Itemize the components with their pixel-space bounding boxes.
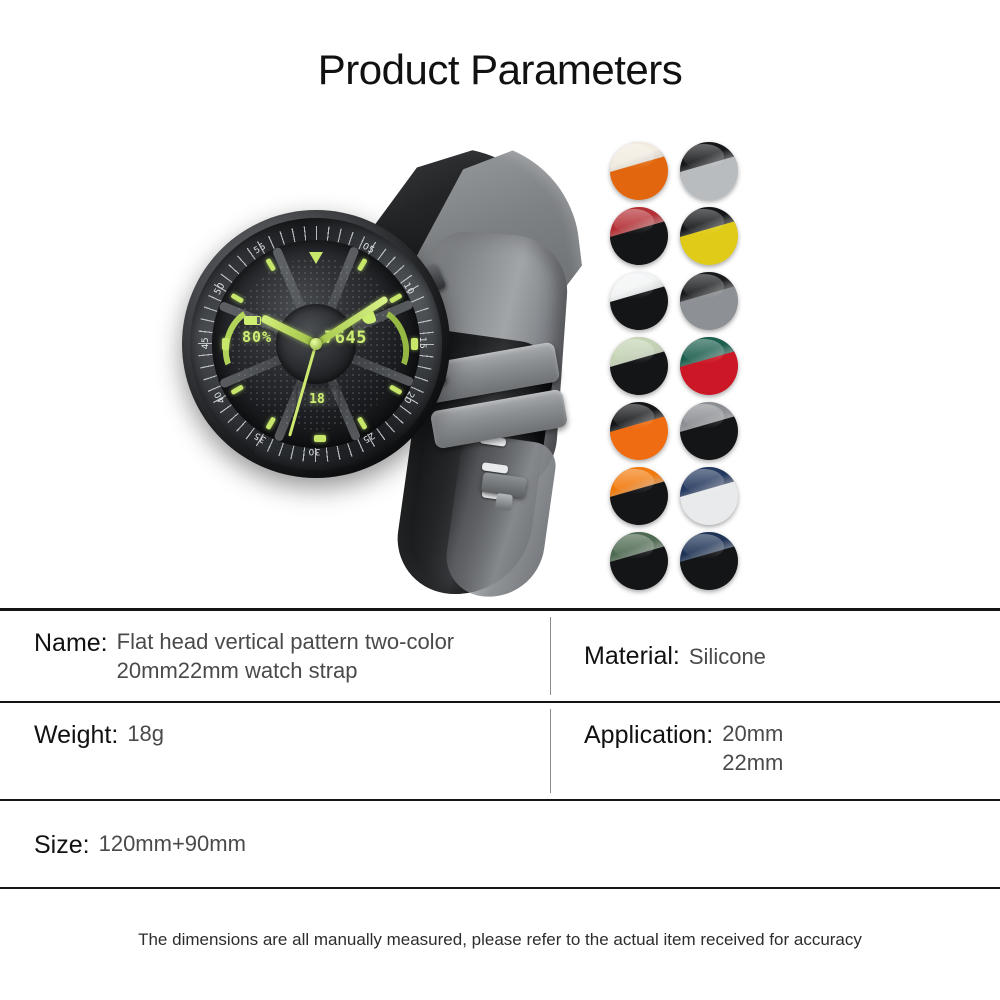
color-swatch-olive-black[interactable] <box>610 532 668 590</box>
color-swatch-red-black[interactable] <box>610 207 668 265</box>
product-hero-image: 0510152025303540455055 80% 7645 18 <box>0 128 1000 598</box>
dial-marker <box>356 416 367 430</box>
battery-percentage: 80% <box>242 328 272 346</box>
color-swatch-sage-black[interactable] <box>610 337 668 395</box>
date-value: 18 <box>304 392 330 407</box>
spec-label-size: Size: <box>34 829 90 862</box>
hand-center-cap <box>310 338 322 350</box>
color-swatch-gray-black[interactable] <box>680 402 738 460</box>
color-swatch-white-black[interactable] <box>610 272 668 330</box>
spec-cell-material: Material: Silicone <box>550 611 1000 701</box>
color-swatch-navy-white[interactable] <box>680 467 738 525</box>
spec-label-material: Material: <box>584 640 680 673</box>
strap-clasp-pin <box>495 493 513 511</box>
dial-top-index <box>309 252 323 264</box>
color-swatch-black-orange[interactable] <box>610 402 668 460</box>
watch-dial: 80% 7645 18 <box>212 240 420 448</box>
dial-marker <box>411 338 418 350</box>
dial-marker <box>388 384 402 395</box>
page-title: Product Parameters <box>0 46 1000 94</box>
spec-cell-name: Name: Flat head vertical pattern two-col… <box>0 611 550 701</box>
dial-marker <box>265 416 276 430</box>
strap-lower-gray-edge <box>441 432 558 604</box>
dial-marker <box>265 258 276 272</box>
color-swatch-grid <box>610 142 740 592</box>
color-swatch-green-red[interactable] <box>680 337 738 395</box>
dial-marker <box>314 435 326 442</box>
color-swatch-black-yellow[interactable] <box>680 207 738 265</box>
color-swatch-orange-black[interactable] <box>610 467 668 525</box>
spec-value-name: Flat head vertical pattern two-color 20m… <box>117 627 455 685</box>
spec-row-weight: Weight: 18g Application: 20mm 22mm <box>0 703 1000 799</box>
dial-marker <box>356 258 367 272</box>
table-bottom-rule <box>0 887 1000 889</box>
spec-value-size: 120mm+90mm <box>99 829 246 858</box>
spec-cell-application: Application: 20mm 22mm <box>550 703 1000 799</box>
color-swatch-black-gray[interactable] <box>680 272 738 330</box>
dial-marker <box>230 384 244 395</box>
battery-icon <box>244 316 261 325</box>
spec-value-material: Silicone <box>689 642 766 671</box>
dial-marker <box>388 293 402 304</box>
spec-value-application: 20mm 22mm <box>722 719 783 777</box>
spec-cell-size: Size: 120mm+90mm <box>0 801 246 887</box>
spec-label-weight: Weight: <box>34 719 118 752</box>
spec-row-size: Size: 120mm+90mm <box>0 801 1000 887</box>
watch-case: 0510152025303540455055 80% 7645 18 <box>182 210 450 478</box>
color-swatch-navy-black[interactable] <box>680 532 738 590</box>
color-swatch-cream-orange[interactable] <box>610 142 668 200</box>
product-parameters-page: Product Parameters 051015202530354045505… <box>0 0 1000 1000</box>
spec-label-name: Name: <box>34 627 108 660</box>
dial-marker <box>230 293 244 304</box>
watch-product-photo: 0510152025303540455055 80% 7645 18 <box>160 138 600 578</box>
dial-marker <box>222 338 229 350</box>
spec-label-application: Application: <box>584 719 713 752</box>
spec-row-name: Name: Flat head vertical pattern two-col… <box>0 611 1000 701</box>
spec-value-weight: 18g <box>127 719 164 748</box>
spec-cell-weight: Weight: 18g <box>0 703 550 799</box>
measurement-disclaimer: The dimensions are all manually measured… <box>0 930 1000 950</box>
color-swatch-black-silver[interactable] <box>680 142 738 200</box>
specification-table: Name: Flat head vertical pattern two-col… <box>0 608 1000 889</box>
